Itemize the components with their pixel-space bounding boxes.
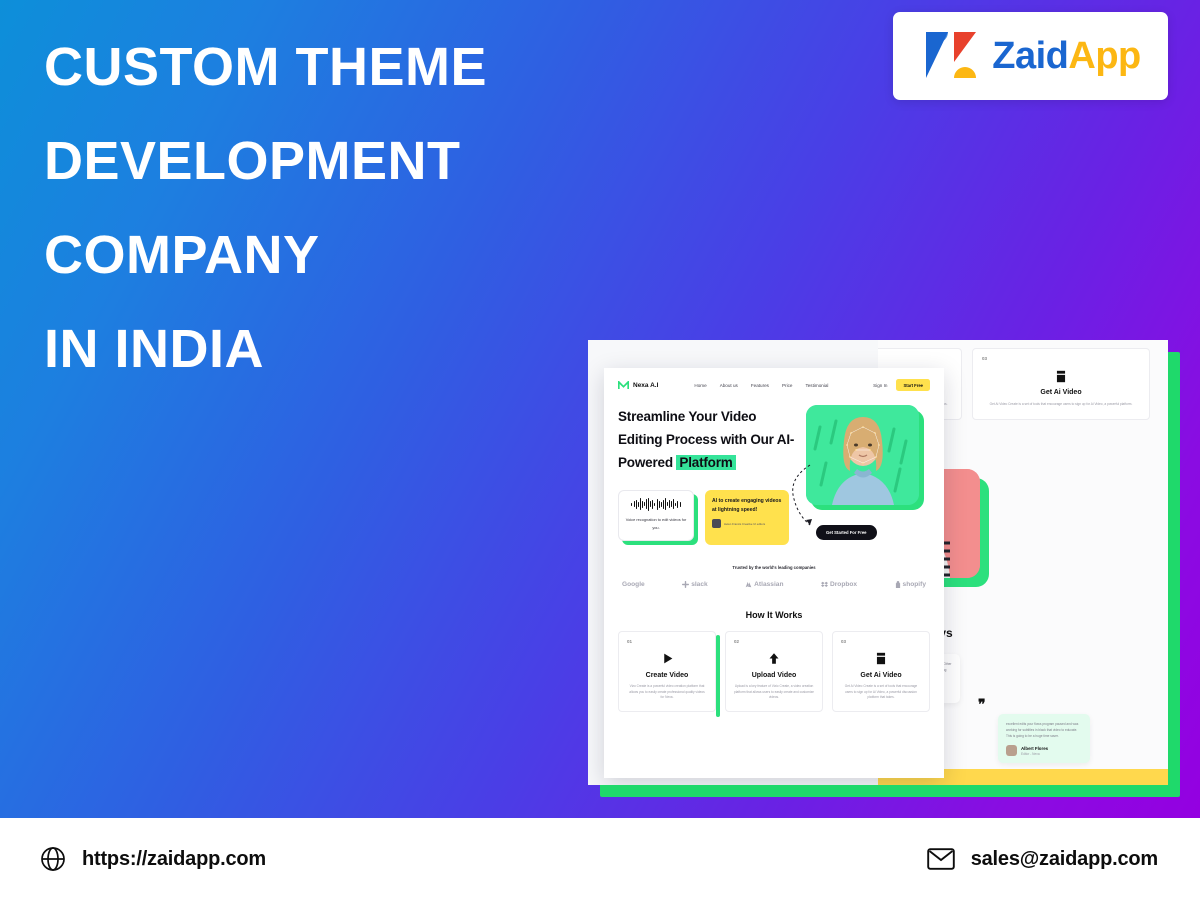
contact-footer: https://zaidapp.com sales@zaidapp.com <box>0 818 1200 900</box>
upload-arrow-icon <box>734 649 814 669</box>
testimonial-quote-3: excellent edits your flows program pause… <box>1006 721 1082 739</box>
trusted-logo-atlassian: Atlassian <box>745 581 783 588</box>
back-hiw-num-2: 02 <box>878 356 952 361</box>
hero-heading: Streamline Your Video Editing Process wi… <box>618 405 796 475</box>
hiw-body-2: Upload is a key feature of Vizio Create,… <box>734 684 814 700</box>
website-mockup: 01 Create Video Vizo Create is a powerfu… <box>588 340 1168 785</box>
brand-name-part2: App <box>1068 35 1140 77</box>
trusted-logo-atlassian-label: Atlassian <box>754 581 783 588</box>
woman-face-tracking-photo <box>806 405 919 505</box>
nav-item-home[interactable]: Home <box>694 383 706 388</box>
get-started-free-button[interactable]: Get Started For Free <box>816 525 877 540</box>
testimonial-role-3: Editor - Nexa <box>1021 752 1048 756</box>
site-navbar: Nexa A.I Home About us Features Price Te… <box>604 368 944 391</box>
headline-line-3: COMPANY <box>44 208 604 302</box>
back-hiw-title-3: Get Ai Video <box>982 389 1140 398</box>
trusted-logo-dropbox: Dropbox <box>821 581 857 588</box>
hero-heading-highlight: Platform <box>676 455 735 470</box>
play-icon <box>627 649 707 669</box>
promo-banner: CUSTOM THEME DEVELOPMENT COMPANY IN INDI… <box>0 0 1200 818</box>
nexa-logo-icon <box>618 381 629 390</box>
mockup-front-page: Nexa A.I Home About us Features Price Te… <box>604 368 944 778</box>
ai-speed-card: AI to create engaging videos at lightnin… <box>705 490 789 545</box>
hiw-num-3: 03 <box>841 639 921 644</box>
testimonial-card-3: excellent edits your flows program pause… <box>998 714 1090 763</box>
hiw-num-1: 01 <box>627 639 707 644</box>
nav-links: Home About us Features Price Testimonial <box>694 383 828 388</box>
voice-card-text: Voice recognation to edit videos for you… <box>625 516 687 532</box>
hiw-num-2: 02 <box>734 639 814 644</box>
hero-heading-line3: Powered <box>618 455 676 470</box>
audio-waveform-icon <box>631 498 680 511</box>
dropbox-icon <box>821 581 828 588</box>
email-contact[interactable]: sales@zaidapp.com <box>927 848 1158 871</box>
quote-marks-icon: ❞ <box>978 696 986 713</box>
nav-item-testimonial[interactable]: Testimonial <box>805 383 828 388</box>
site-brand[interactable]: Nexa A.I <box>618 381 658 390</box>
email-address: sales@zaidapp.com <box>971 848 1158 871</box>
hero-heading-line2: Editing Process with Our AI- <box>618 428 796 451</box>
back-hiw-num-3: 03 <box>982 356 1140 361</box>
envelope-icon <box>927 848 955 870</box>
sign-in-link[interactable]: Sign In <box>873 383 887 388</box>
back-hiw-card-3: 03 Get Ai Video Get Ai Video Create is a… <box>972 348 1150 420</box>
brand-logo-badge: ZaidApp <box>893 12 1168 100</box>
brand-logo-text: ZaidApp <box>992 37 1141 75</box>
hiw-card-get-ai-video: 03 Get Ai Video Get Ai Video Create is a… <box>832 631 930 712</box>
testimonial-name-3: Albert Flores <box>1021 746 1048 751</box>
site-brand-name: Nexa A.I <box>633 382 658 389</box>
stack-layers-icon <box>841 649 921 669</box>
front-how-it-works-section: How It Works 01 Create Video Vizo Create… <box>604 610 944 712</box>
headline-line-1: CUSTOM THEME <box>44 20 604 114</box>
hiw-title-3: Get Ai Video <box>841 672 921 681</box>
headline-line-4: IN INDIA <box>44 302 604 396</box>
mockup-pages: 01 Create Video Vizo Create is a powerfu… <box>588 340 1168 785</box>
hiw-card-create-video: 01 Create Video Vizo Create is a powerfu… <box>618 631 716 712</box>
slack-icon <box>682 581 689 588</box>
hiw-title-2: Upload Video <box>734 672 814 681</box>
brand-name-part1: Zaid <box>992 35 1068 77</box>
nav-item-features[interactable]: Features <box>751 383 769 388</box>
hiw-body-3: Get Ai Video Create is a set of tools th… <box>841 684 921 700</box>
shopify-icon <box>895 581 901 588</box>
trusted-label: Trusted by the world's leading companies <box>618 565 930 570</box>
hiw-title-1: Create Video <box>627 672 707 681</box>
headline-line-2: DEVELOPMENT <box>44 114 604 208</box>
zaid-z-mark-icon <box>920 28 982 84</box>
nav-item-price[interactable]: Price <box>782 383 792 388</box>
dashed-arrow-icon <box>784 463 814 533</box>
hero-heading-line1: Streamline Your Video <box>618 405 796 428</box>
start-free-button[interactable]: Start Free <box>896 379 930 391</box>
trusted-logo-shopify-label: shopify <box>903 581 926 588</box>
hiw-card-upload-video: 02 Upload Video Upload is a key feature … <box>725 631 823 712</box>
voice-recognition-card: Voice recognation to edit videos for you… <box>618 490 698 545</box>
ai-card-meta: Helen Francis Creative UI editors <box>724 522 765 526</box>
nav-item-about-us[interactable]: About us <box>720 383 738 388</box>
how-it-works-heading: How It Works <box>618 610 930 620</box>
trusted-logo-slack-label: slack <box>691 581 708 588</box>
globe-icon <box>40 846 66 872</box>
trusted-logo-slack: slack <box>682 581 708 588</box>
trusted-logo-google: Google <box>622 581 645 588</box>
trusted-logo-dropbox-label: Dropbox <box>830 581 857 588</box>
trusted-by-section: Trusted by the world's leading companies… <box>604 565 944 588</box>
hero-section: Streamline Your Video Editing Process wi… <box>604 391 944 545</box>
website-url: https://zaidapp.com <box>82 848 266 871</box>
back-hiw-body-3: Get Ai Video Create is a set of tools th… <box>982 402 1140 407</box>
user-avatar-icon <box>712 519 721 528</box>
hiw-body-1: Vizo Create is a powerful video creation… <box>627 684 707 700</box>
avatar <box>1006 745 1017 756</box>
ai-card-text: AI to create engaging videos at lightnin… <box>712 497 782 515</box>
trusted-logo-shopify: shopify <box>895 581 926 588</box>
website-contact[interactable]: https://zaidapp.com <box>40 846 266 872</box>
stack-layers-icon <box>982 366 1140 386</box>
atlassian-icon <box>745 581 752 588</box>
page-title: CUSTOM THEME DEVELOPMENT COMPANY IN INDI… <box>44 20 604 396</box>
